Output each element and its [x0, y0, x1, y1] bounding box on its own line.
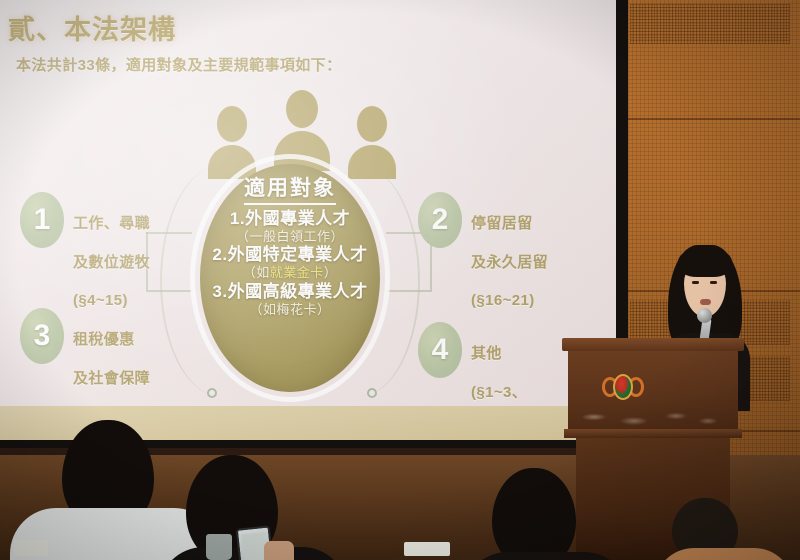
quadrant-3-line2: 及社會保障: [73, 369, 150, 388]
projection-screen: 貳、本法架構 本法共計33條，適用對象及主要規範事項如下：: [0, 0, 616, 440]
institution-emblem-icon: [602, 371, 644, 405]
presenter-hair-top: [678, 247, 732, 277]
audience-member-center: [168, 455, 338, 560]
presenter-eye-right: [710, 281, 717, 284]
center-item-2-note: （如就業金卡）: [198, 265, 382, 281]
quadrant-4-line2: (§1~3、: [471, 383, 529, 402]
audience-member-far-right: [662, 498, 782, 560]
quadrant-2-line2: 及永久居留: [471, 253, 548, 272]
quadrant-item-2: 2 停留居留 及永久居留 (§16~21): [418, 192, 548, 329]
presenter-mouth: [700, 299, 711, 305]
quadrant-4-line1: 其他: [471, 344, 529, 363]
projection-screen-frame: 貳、本法架構 本法共計33條，適用對象及主要規範事項如下：: [0, 0, 628, 448]
note-suffix: ）: [324, 265, 338, 280]
paper-sheet: [404, 542, 450, 556]
badge-number-2: 2: [418, 192, 462, 248]
slide-subtitle: 本法共計33條，適用對象及主要規範事項如下：: [16, 54, 342, 75]
audience-shoulders: [462, 552, 630, 560]
lecture-hall-photo: 貳、本法架構 本法共計33條，適用對象及主要規範事項如下：: [0, 0, 800, 560]
audience-hand: [264, 541, 294, 560]
wall-panel: [630, 4, 790, 44]
quadrant-1-line1: 工作、尋職: [73, 214, 150, 233]
quadrant-2-text: 停留居留 及永久居留 (§16~21): [471, 192, 548, 329]
podium-top-slab: [562, 338, 744, 351]
microphone-head: [697, 308, 712, 323]
podium-lip: [564, 429, 742, 438]
quadrant-1-line2: 及數位遊牧: [73, 253, 150, 272]
badge-number-1: 1: [20, 192, 64, 248]
podium-engraved-text: [578, 407, 728, 431]
badge-number-3: 3: [20, 308, 64, 364]
gold-card-highlight: 就業金卡: [270, 265, 324, 280]
audience-head: [492, 468, 576, 560]
quadrant-3-line1: 租稅優惠: [73, 330, 150, 349]
emblem-center: [613, 374, 633, 400]
center-item-1-note: （一般白領工作）: [198, 229, 382, 245]
audience-member-right: [468, 468, 618, 560]
badge-number-4: 4: [418, 322, 462, 378]
presenter-eye-left: [692, 281, 699, 284]
podium-front-panel: [568, 351, 738, 429]
three-people-icon: [202, 84, 402, 164]
center-item-1: 1.外國專業人才: [198, 209, 382, 229]
paper-cup: [206, 534, 232, 560]
note-prefix: （如: [243, 265, 270, 280]
center-item-2: 2.外國特定專業人才: [198, 245, 382, 265]
quadrant-2-section: (§16~21): [471, 291, 548, 310]
center-circle-text: 適用對象 1.外國專業人才 （一般白領工作） 2.外國特定專業人才 （如就業金卡…: [198, 172, 382, 392]
quadrant-2-line1: 停留居留: [471, 214, 548, 233]
paper-sheet: [14, 540, 48, 556]
center-item-3-note: （如梅花卡）: [198, 302, 382, 318]
center-item-3: 3.外國高級專業人才: [198, 282, 382, 302]
wall-seam: [600, 118, 800, 120]
center-circle: 適用對象 1.外國專業人才 （一般白領工作） 2.外國特定專業人才 （如就業金卡…: [190, 154, 390, 402]
center-heading: 適用對象: [244, 172, 336, 205]
audience-shoulders: [654, 548, 794, 560]
slide-title: 貳、本法架構: [8, 8, 176, 47]
